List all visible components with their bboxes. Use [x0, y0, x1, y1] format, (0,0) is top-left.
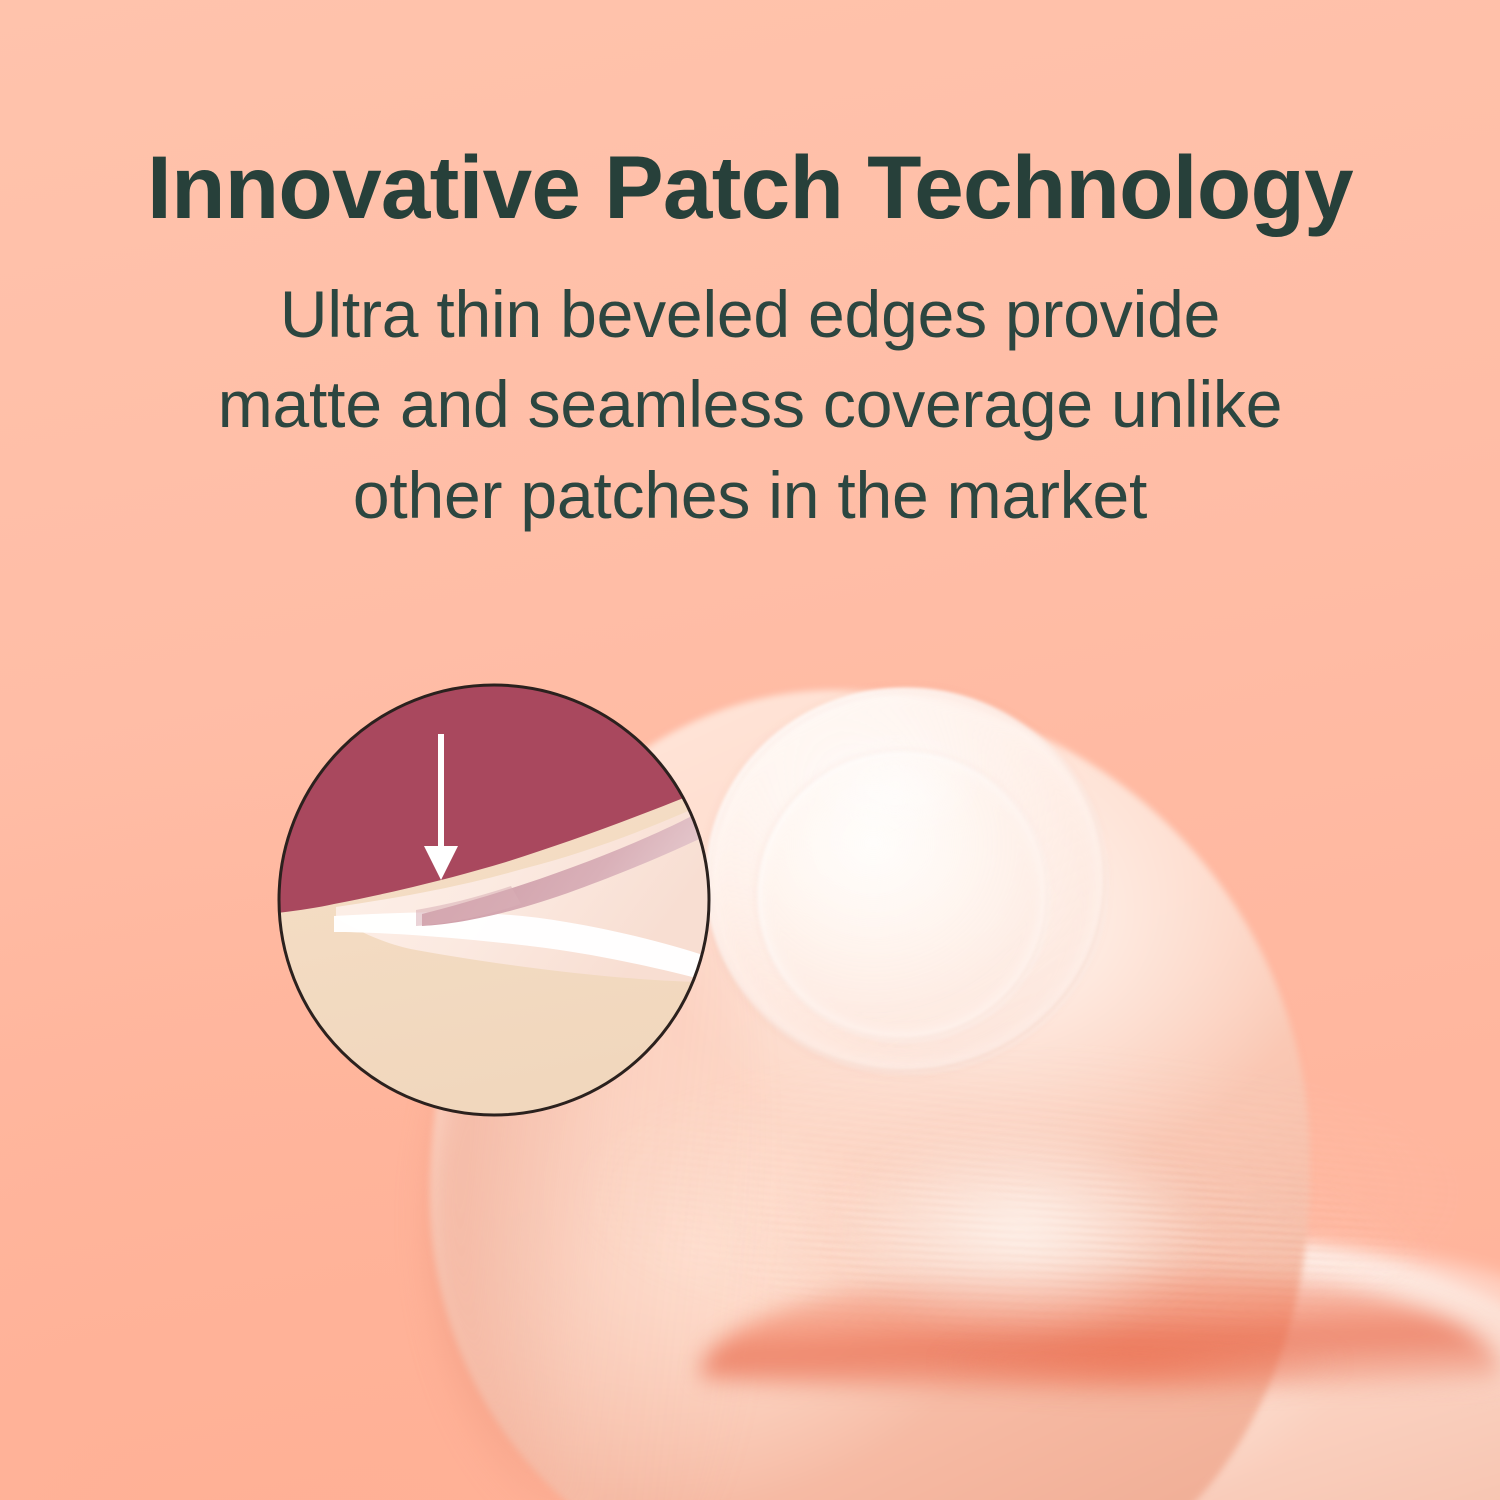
marketing-copy: Innovative Patch Technology Ultra thin b…	[0, 0, 1500, 540]
subtitle-line-2: matte and seamless coverage unlike	[160, 359, 1340, 449]
product-feature-image: Innovative Patch Technology Ultra thin b…	[0, 0, 1500, 1500]
cross-section-diagram	[276, 682, 712, 1118]
subtitle-line-1: Ultra thin beveled edges provide	[160, 269, 1340, 359]
fingertip-highlight	[760, 1080, 1280, 1380]
subtitle-line-3: other patches in the market	[160, 450, 1340, 540]
hydrocolloid-patch-sheen	[770, 710, 1020, 860]
page-title: Innovative Patch Technology	[0, 0, 1500, 233]
subtitle: Ultra thin beveled edges provide matte a…	[160, 233, 1340, 540]
